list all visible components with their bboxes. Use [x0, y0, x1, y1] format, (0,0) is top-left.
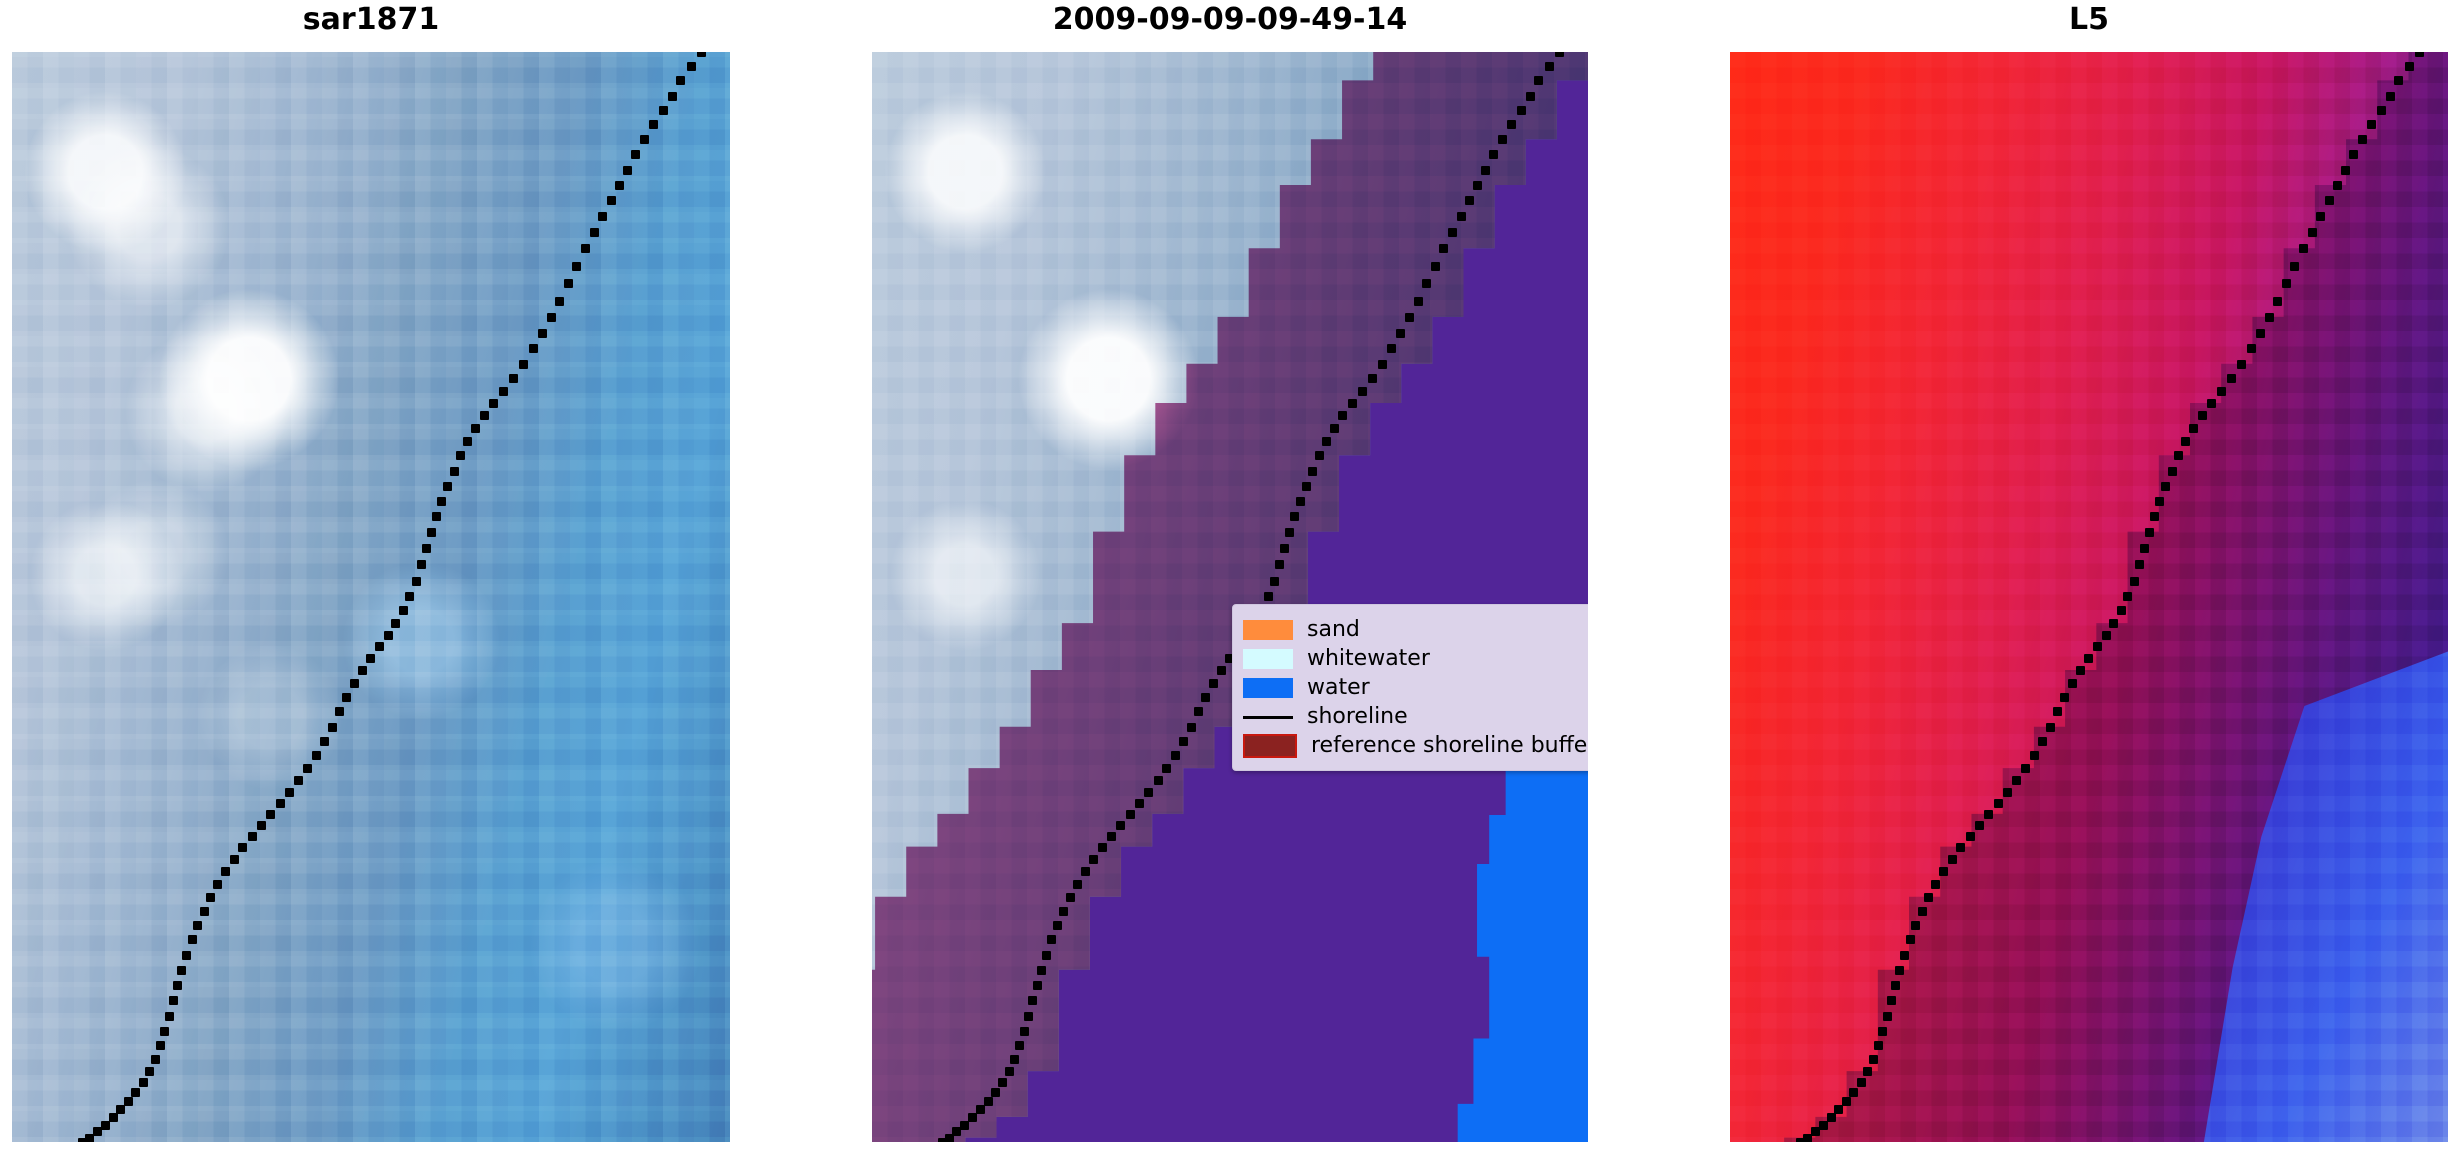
- shoreline-dot: [266, 810, 275, 819]
- shoreline-dot: [960, 1121, 969, 1130]
- shoreline-dot: [1966, 832, 1975, 841]
- shoreline-dot: [443, 482, 452, 491]
- shoreline-dot: [1330, 424, 1339, 433]
- shoreline-dot: [2282, 279, 2291, 288]
- shoreline-dot: [145, 1067, 154, 1076]
- panel-sar-image[interactable]: [12, 52, 730, 1142]
- legend-row-shoreline: shoreline: [1243, 702, 1588, 731]
- shoreline-dot: [590, 228, 599, 237]
- shoreline-dot: [2386, 92, 2395, 101]
- shoreline-dot: [1358, 387, 1367, 396]
- shoreline-dot: [109, 1113, 118, 1122]
- shoreline-dot: [555, 297, 564, 306]
- shoreline-dot: [200, 907, 209, 916]
- legend-label: sand: [1307, 619, 1360, 641]
- shoreline-dot: [2358, 135, 2367, 144]
- shoreline-dot: [1842, 1097, 1851, 1106]
- shoreline-dot: [1489, 150, 1498, 159]
- shoreline-dot: [623, 166, 632, 175]
- shoreline-dot: [1302, 482, 1311, 491]
- shoreline-dot: [2140, 544, 2149, 553]
- shoreline-dot: [1396, 329, 1405, 338]
- shoreline-dot: [1378, 360, 1387, 369]
- shoreline-dot: [1414, 297, 1423, 306]
- shoreline-dot: [188, 935, 197, 944]
- shoreline-dot: [427, 528, 436, 537]
- shoreline-dot: [2093, 642, 2102, 651]
- shoreline-dot: [412, 577, 421, 586]
- shoreline-dot: [1033, 981, 1042, 990]
- shoreline-dot: [991, 1088, 1000, 1097]
- shoreline-dot: [2046, 723, 2055, 732]
- shoreline-dot: [1431, 262, 1440, 271]
- shoreline-dot: [2012, 776, 2021, 785]
- shoreline-dot: [1457, 212, 1466, 221]
- l5-image-canvas: [1730, 52, 2448, 1142]
- shoreline-dot: [640, 135, 649, 144]
- shoreline-dot: [2181, 437, 2190, 446]
- shoreline-dot: [2405, 62, 2414, 71]
- shoreline-dot: [294, 776, 303, 785]
- shoreline-dot: [1827, 1113, 1836, 1122]
- shoreline-dot: [1073, 880, 1082, 889]
- shoreline-dot: [2217, 387, 2226, 396]
- shoreline-dot: [938, 1138, 947, 1142]
- shoreline-dot: [432, 512, 441, 521]
- shoreline-dot: [1010, 1055, 1019, 1064]
- shoreline-dot: [156, 1041, 165, 1050]
- shoreline-dot: [1187, 723, 1196, 732]
- shoreline-dot: [1059, 907, 1068, 916]
- shoreline-dot: [519, 360, 528, 369]
- shoreline-dot: [2130, 577, 2139, 586]
- shoreline-dot: [2299, 244, 2308, 253]
- shoreline-dot: [1005, 1067, 1014, 1076]
- shoreline-dot: [2265, 313, 2274, 322]
- shoreline-dot: [952, 1127, 961, 1136]
- shoreline-dot: [1918, 907, 1927, 916]
- shoreline-dot: [1201, 693, 1210, 702]
- shoreline-dot: [2068, 679, 2077, 688]
- shoreline-dot: [1024, 1012, 1033, 1021]
- panel-title-sar: sar1871: [12, 0, 730, 48]
- shoreline-dot: [1066, 893, 1075, 902]
- shoreline-dot: [399, 606, 408, 615]
- shoreline-dot: [1338, 411, 1347, 420]
- shoreline-dot: [78, 1138, 87, 1142]
- shoreline-dot: [598, 212, 607, 221]
- shoreline-dot: [160, 1027, 169, 1036]
- shoreline-dot: [1098, 843, 1107, 852]
- shoreline-dot: [529, 344, 538, 353]
- shoreline-dot: [1948, 855, 1957, 864]
- shoreline-dot: [509, 374, 518, 383]
- shoreline-dot: [124, 1097, 133, 1106]
- shoreline-dot: [358, 666, 367, 675]
- shoreline-dot: [1042, 951, 1051, 960]
- shoreline-dot: [230, 855, 239, 864]
- panel-classified-image[interactable]: sandwhitewaterwatershorelinereference sh…: [872, 52, 1588, 1142]
- shoreline-dot: [1994, 799, 2003, 808]
- shoreline-dot: [2168, 467, 2177, 476]
- shoreline-dot: [1887, 996, 1896, 1005]
- shoreline-dot: [366, 654, 375, 663]
- shoreline-dot: [1819, 1121, 1828, 1130]
- shoreline-dot: [320, 737, 329, 746]
- shoreline-dot: [2367, 120, 2376, 129]
- legend-label: whitewater: [1307, 648, 1430, 670]
- shoreline-dot: [169, 996, 178, 1005]
- shoreline-dot: [1047, 935, 1056, 944]
- shoreline-dot: [2394, 76, 2403, 85]
- shoreline-dot: [1280, 544, 1289, 553]
- legend-label: water: [1307, 677, 1370, 699]
- legend-row-reference-shoreline-buffer: reference shoreline buffer: [1243, 731, 1588, 760]
- shoreline-dot: [547, 313, 556, 322]
- shoreline-dot: [480, 411, 489, 420]
- shoreline-dot: [93, 1127, 102, 1136]
- shoreline-dot: [2273, 297, 2282, 306]
- shoreline-dot: [1984, 810, 1993, 819]
- shoreline-dot: [538, 329, 547, 338]
- shoreline-dot: [2084, 654, 2093, 663]
- shoreline-dot: [1906, 935, 1915, 944]
- shoreline-dot: [1209, 679, 1218, 688]
- shoreline-dot: [101, 1121, 110, 1130]
- shoreline-dot: [1037, 966, 1046, 975]
- shoreline-dot: [248, 832, 257, 841]
- classified-image-canvas: [872, 52, 1588, 1142]
- shoreline-dot: [2349, 150, 2358, 159]
- shoreline-dot: [984, 1097, 993, 1106]
- shoreline-dot: [1517, 106, 1526, 115]
- shoreline-dot: [2227, 374, 2236, 383]
- shoreline-dot: [2155, 497, 2164, 506]
- shoreline-dot: [676, 76, 685, 85]
- shoreline-dot: [2207, 399, 2216, 408]
- shoreline-dot: [1526, 92, 1535, 101]
- shoreline-dot: [312, 751, 321, 760]
- shoreline-dot: [1290, 512, 1299, 521]
- shoreline-dot: [1924, 893, 1933, 902]
- shoreline-dot: [1956, 843, 1965, 852]
- shoreline-dot: [1534, 76, 1543, 85]
- shoreline-dot: [1422, 279, 1431, 288]
- shoreline-dot: [1975, 821, 1984, 830]
- shoreline-dot: [206, 893, 215, 902]
- shoreline-dot: [2290, 262, 2299, 271]
- shoreline-dot: [2038, 737, 2047, 746]
- shoreline-dot: [581, 244, 590, 253]
- shoreline-dot: [1863, 1067, 1872, 1076]
- shoreline-dot: [257, 821, 266, 830]
- shoreline-dot: [1878, 1027, 1887, 1036]
- shoreline-dot: [1171, 751, 1180, 760]
- shoreline-dot: [2237, 360, 2246, 369]
- shoreline-dot: [2102, 631, 2111, 640]
- legend-box[interactable]: sandwhitewaterwatershorelinereference sh…: [1232, 604, 1588, 771]
- shoreline-dot: [1555, 52, 1564, 57]
- shoreline-dot: [1089, 855, 1098, 864]
- shoreline-dot: [1194, 707, 1203, 716]
- shoreline-dot: [335, 707, 344, 716]
- shoreline-dot: [2189, 424, 2198, 433]
- legend-row-whitewater: whitewater: [1243, 644, 1588, 673]
- shoreline-dot: [1028, 996, 1037, 1005]
- shoreline-dot: [697, 52, 706, 57]
- legend-swatch-icon-4: [1243, 734, 1297, 758]
- shoreline-dot: [2076, 666, 2085, 675]
- shoreline-dot: [998, 1078, 1007, 1087]
- shoreline-dot: [131, 1088, 140, 1097]
- shoreline-dot: [2109, 619, 2118, 628]
- shoreline-dot: [1796, 1138, 1805, 1142]
- shoreline-dot: [2117, 606, 2126, 615]
- shoreline-dot: [238, 843, 247, 852]
- shoreline-dot: [1857, 1078, 1866, 1087]
- shoreline-dot: [328, 723, 337, 732]
- shoreline-dot: [976, 1105, 985, 1114]
- shoreline-dot: [1144, 788, 1153, 797]
- legend-swatch-icon-2: [1243, 678, 1293, 698]
- shoreline-dot: [391, 619, 400, 628]
- shoreline-dots-l5: [1730, 52, 2448, 1142]
- shoreline-dot: [649, 120, 658, 129]
- shoreline-dot: [2341, 166, 2350, 175]
- shoreline-dots-sar: [12, 52, 730, 1142]
- shoreline-dot: [2174, 451, 2183, 460]
- legend-swatch-icon-0: [1243, 620, 1293, 640]
- shoreline-dot: [173, 981, 182, 990]
- shoreline-dot: [2150, 512, 2159, 521]
- legend-label: shoreline: [1307, 706, 1408, 728]
- shoreline-dot: [572, 262, 581, 271]
- shoreline-dot: [221, 867, 230, 876]
- shoreline-dot: [1116, 821, 1125, 830]
- shoreline-dot: [2003, 788, 2012, 797]
- shoreline-dot: [2316, 212, 2325, 221]
- shoreline-dot: [405, 592, 414, 601]
- shoreline-dot: [2161, 482, 2170, 491]
- shoreline-dot: [213, 880, 222, 889]
- shoreline-dot: [564, 279, 573, 288]
- shoreline-dot: [1439, 244, 1448, 253]
- legend-swatch-icon-1: [1243, 649, 1293, 669]
- shoreline-dot: [342, 693, 351, 702]
- legend-label: reference shoreline buffer: [1311, 735, 1588, 757]
- shoreline-dot: [1448, 228, 1457, 237]
- shoreline-dot: [1217, 666, 1226, 675]
- shoreline-dot: [2030, 751, 2039, 760]
- shoreline-dot: [2256, 329, 2265, 338]
- shoreline-dot: [1405, 313, 1414, 322]
- shoreline-dot: [499, 387, 508, 396]
- shoreline-dot: [1015, 1041, 1024, 1050]
- shoreline-dot: [1126, 810, 1135, 819]
- shoreline-dot: [1811, 1127, 1820, 1136]
- shoreline-dot: [303, 764, 312, 773]
- shoreline-dot: [285, 788, 294, 797]
- panel-l5-image[interactable]: [1730, 52, 2448, 1142]
- shoreline-dot: [422, 544, 431, 553]
- shoreline-dot: [177, 966, 186, 975]
- figure-canvas: sar1871 2009-09-09-09-49-14 sandwhitewat…: [0, 0, 2460, 1157]
- shoreline-dot: [607, 196, 616, 205]
- shoreline-dot: [1834, 1105, 1843, 1114]
- shoreline-dot: [1507, 120, 1516, 129]
- shoreline-dot: [2053, 707, 2062, 716]
- shoreline-dot: [1931, 880, 1940, 889]
- shoreline-dot: [968, 1113, 977, 1122]
- shoreline-dot: [1939, 867, 1948, 876]
- legend-line-icon-3: [1243, 707, 1293, 727]
- shoreline-dot: [1891, 981, 1900, 990]
- shoreline-dot: [668, 92, 677, 101]
- shoreline-dot: [1285, 528, 1294, 537]
- shoreline-dot: [1498, 135, 1507, 144]
- shoreline-dot: [2333, 181, 2342, 190]
- shoreline-dot: [2308, 228, 2317, 237]
- panel-title-classified: 2009-09-09-09-49-14: [872, 0, 1588, 48]
- shoreline-dot: [2021, 764, 2030, 773]
- shoreline-dot: [471, 424, 480, 433]
- shoreline-dot: [2377, 106, 2386, 115]
- shoreline-dot: [417, 560, 426, 569]
- shoreline-dot: [139, 1078, 148, 1087]
- shoreline-dot: [2415, 52, 2424, 57]
- shoreline-dot: [1020, 1027, 1029, 1036]
- shoreline-dot: [1895, 966, 1904, 975]
- shoreline-dot: [1162, 764, 1171, 773]
- shoreline-dot: [1179, 737, 1188, 746]
- shoreline-dot: [615, 181, 624, 190]
- shoreline-dot: [1270, 577, 1279, 586]
- shoreline-dot: [1107, 832, 1116, 841]
- shoreline-dot: [687, 62, 696, 71]
- shoreline-dot: [1849, 1088, 1858, 1097]
- shoreline-dot: [456, 451, 465, 460]
- shoreline-dot: [1465, 196, 1474, 205]
- shoreline-dot: [1053, 921, 1062, 930]
- shoreline-dot: [1296, 497, 1305, 506]
- shoreline-dot: [2135, 560, 2144, 569]
- shoreline-dot: [1900, 951, 1909, 960]
- shoreline-dot: [1481, 166, 1490, 175]
- shoreline-dot: [1911, 921, 1920, 930]
- shoreline-dot: [375, 642, 384, 651]
- shoreline-dot: [1081, 867, 1090, 876]
- shoreline-dot: [116, 1105, 125, 1114]
- shoreline-dot: [151, 1055, 160, 1064]
- shoreline-dot: [1473, 181, 1482, 190]
- shoreline-dot: [2123, 592, 2132, 601]
- shoreline-dot: [437, 497, 446, 506]
- shoreline-dot: [1275, 560, 1284, 569]
- shoreline-dot: [1874, 1041, 1883, 1050]
- shoreline-dot: [1545, 62, 1554, 71]
- shoreline-dot: [1264, 592, 1273, 601]
- panel-title-l5: L5: [1730, 0, 2448, 48]
- shoreline-dot: [489, 399, 498, 408]
- shoreline-dot: [1869, 1055, 1878, 1064]
- shoreline-dot: [2145, 528, 2154, 537]
- shoreline-dot: [1387, 344, 1396, 353]
- legend-row-water: water: [1243, 673, 1588, 702]
- shoreline-dot: [2247, 344, 2256, 353]
- legend-row-sand: sand: [1243, 615, 1588, 644]
- shoreline-dot: [276, 799, 285, 808]
- shoreline-dot: [182, 951, 191, 960]
- shoreline-dot: [1315, 451, 1324, 460]
- shoreline-dot: [1135, 799, 1144, 808]
- shoreline-dot: [659, 106, 668, 115]
- shoreline-dot: [2198, 411, 2207, 420]
- shoreline-dot: [1368, 374, 1377, 383]
- shoreline-dot: [1348, 399, 1357, 408]
- shoreline-dot: [2325, 196, 2334, 205]
- shoreline-dot: [1308, 467, 1317, 476]
- shoreline-dot: [1322, 437, 1331, 446]
- shoreline-dot: [2060, 693, 2069, 702]
- shoreline-dot: [450, 467, 459, 476]
- shoreline-dot: [350, 679, 359, 688]
- sar-image-canvas: [12, 52, 730, 1142]
- shoreline-dot: [1883, 1012, 1892, 1021]
- shoreline-dots-classified: [872, 52, 1588, 1142]
- shoreline-dot: [1154, 776, 1163, 785]
- shoreline-dot: [384, 631, 393, 640]
- shoreline-dot: [193, 921, 202, 930]
- shoreline-dot: [463, 437, 472, 446]
- shoreline-dot: [165, 1012, 174, 1021]
- shoreline-dot: [631, 150, 640, 159]
